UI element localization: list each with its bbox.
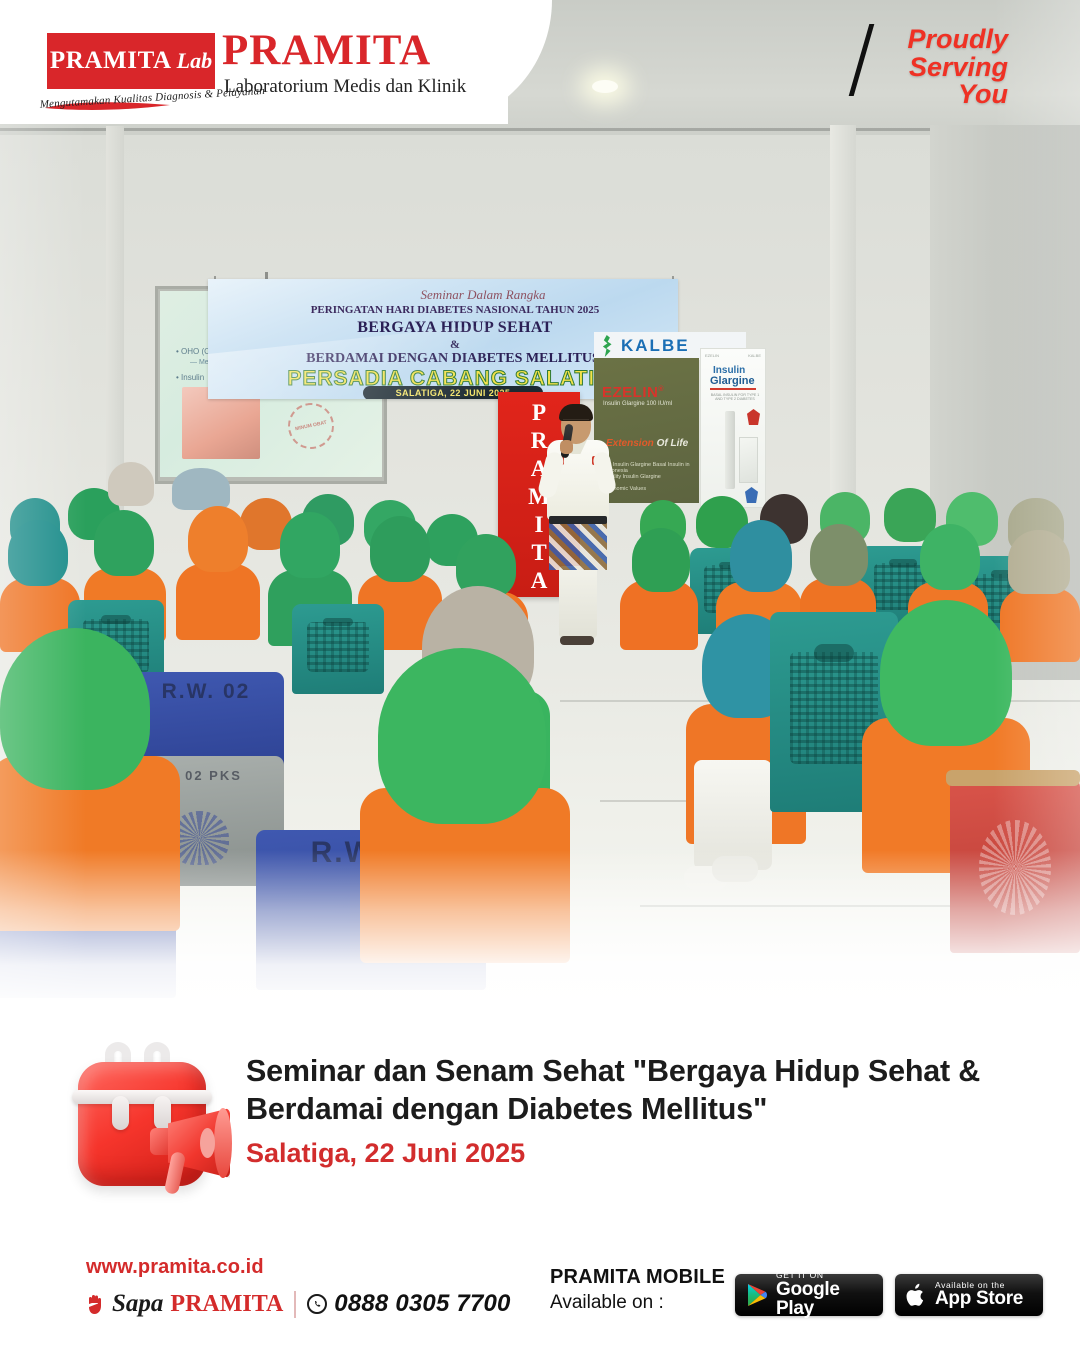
white-bag xyxy=(694,760,772,870)
calendar-megaphone-icon xyxy=(64,1036,244,1221)
caption-title-line-1: Seminar dan Senam Sehat "Bergaya Hidup S… xyxy=(246,1052,1046,1090)
speaker-shoe xyxy=(560,636,594,645)
app-store-big: App Store xyxy=(935,1289,1023,1309)
logo-word-lab: Lab xyxy=(177,48,212,74)
post-canvas: terapi obat DIABETES MELLITUS • OHO (Oba… xyxy=(0,0,1080,1350)
footer-divider xyxy=(294,1291,296,1318)
chair xyxy=(950,778,1080,953)
glargine-pen-image xyxy=(725,411,735,489)
glargine-poster: EZELIN KALBE Insulin Glargine BASAL INSU… xyxy=(700,348,766,508)
calendar-tab xyxy=(112,1096,129,1130)
google-play-big: Google Play xyxy=(776,1280,872,1320)
megaphone-inner xyxy=(200,1128,215,1158)
audience-member xyxy=(176,506,260,638)
caption-date: Salatiga, 22 Juni 2025 xyxy=(246,1138,1046,1169)
kalbe-logo-icon xyxy=(600,335,616,357)
whatsapp-icon xyxy=(307,1294,327,1314)
event-photo: terapi obat DIABETES MELLITUS • OHO (Oba… xyxy=(0,0,1080,1010)
shoe xyxy=(712,856,758,882)
audience-member xyxy=(0,628,180,928)
tagline-line-2: Serving xyxy=(907,54,1008,82)
ceiling-seam xyxy=(0,128,1080,131)
caption-block: Seminar dan Senam Sehat "Bergaya Hidup S… xyxy=(246,1052,1046,1169)
slide-stamp: MINUM OBAT xyxy=(284,399,339,454)
banner-ampersand: & xyxy=(290,337,620,352)
banner-line-5: PERSADIA CABANG SALATIGA xyxy=(268,367,648,391)
website-link[interactable]: www.pramita.co.id xyxy=(86,1256,264,1279)
glargine-poster-header: EZELIN KALBE xyxy=(705,353,761,361)
ezelin-tagline: Extension Of Life xyxy=(606,438,688,449)
mobile-title: PRAMITA MOBILE xyxy=(550,1266,725,1289)
speaker-hand xyxy=(560,440,573,454)
ezelin-descriptor: Insulin Glargine 100 IU/ml xyxy=(603,401,672,407)
mobile-subtitle: Available on : xyxy=(550,1292,725,1314)
kalbe-wordmark: KALBE xyxy=(621,336,690,356)
sapa-brand: PRAMITA xyxy=(170,1291,283,1318)
slide-bullet-2: • Insulin xyxy=(176,373,204,382)
google-play-badge[interactable]: GET IT ON Google Play xyxy=(735,1274,883,1316)
glargine-seal-green-icon xyxy=(747,409,760,425)
ceiling-light-icon xyxy=(592,80,618,93)
whatsapp-number[interactable]: 0888 0305 7700 xyxy=(334,1290,510,1318)
apple-icon xyxy=(906,1283,927,1308)
audience-member xyxy=(360,648,570,958)
caption-title: Seminar dan Senam Sehat "Bergaya Hidup S… xyxy=(246,1052,1046,1129)
speaker-legs xyxy=(559,566,597,638)
caption-title-line-2: Berdamai dengan Diabetes Mellitus" xyxy=(246,1090,1046,1128)
glargine-rule xyxy=(710,388,756,390)
footer: www.pramita.co.id Sapa PRAMITA 0888 0305… xyxy=(0,1240,1080,1350)
tagline-line-3: You xyxy=(907,81,1008,109)
banner-line-4: BERDAMAI DENGAN DIABETES MELLITUS xyxy=(268,351,638,367)
proudly-serving-you-tagline: Proudly Serving You xyxy=(907,26,1008,109)
glargine-caption: BASAL INSULIN FOR TYPE 1 AND TYPE 2 DIAB… xyxy=(708,393,762,401)
brand-name: PRAMITA xyxy=(222,26,431,75)
calendar-strip xyxy=(72,1090,212,1104)
speaker-belt xyxy=(549,516,607,524)
pramita-lab-logo: PRAMITA Lab xyxy=(47,33,215,89)
speaker-batik-cloth xyxy=(549,522,607,570)
logo-word-pramita: PRAMITA xyxy=(50,47,172,75)
google-play-icon xyxy=(746,1283,768,1307)
ezelin-bullet-1: 1st Insulin Glargine Basal Insulin in In… xyxy=(604,462,699,474)
glargine-line-2: Glargine xyxy=(710,375,755,387)
sapa-pramita-block: Sapa PRAMITA 0888 0305 7700 xyxy=(86,1290,511,1318)
app-store-text: Available on the App Store xyxy=(935,1281,1023,1310)
chair-wood-rail xyxy=(946,770,1080,786)
ezelin-brand: EZELIN® xyxy=(602,384,664,401)
banner-line-3: BERGAYA HIDUP SEHAT xyxy=(290,319,620,337)
google-play-text: GET IT ON Google Play xyxy=(776,1271,872,1320)
megaphone-mouth xyxy=(214,1108,232,1178)
tagline-line-1: Proudly xyxy=(907,26,1008,54)
sapa-label: Sapa xyxy=(112,1290,163,1318)
pramita-mobile-block: PRAMITA MOBILE Available on : xyxy=(550,1266,725,1314)
app-store-badge[interactable]: Available on the App Store xyxy=(895,1274,1043,1316)
hand-wave-icon xyxy=(86,1293,105,1315)
glargine-box-image xyxy=(739,437,758,483)
banner-line-1: Seminar Dalam Rangka xyxy=(378,287,588,303)
banner-line-2: PERINGATAN HARI DIABETES NASIONAL TAHUN … xyxy=(290,304,620,316)
